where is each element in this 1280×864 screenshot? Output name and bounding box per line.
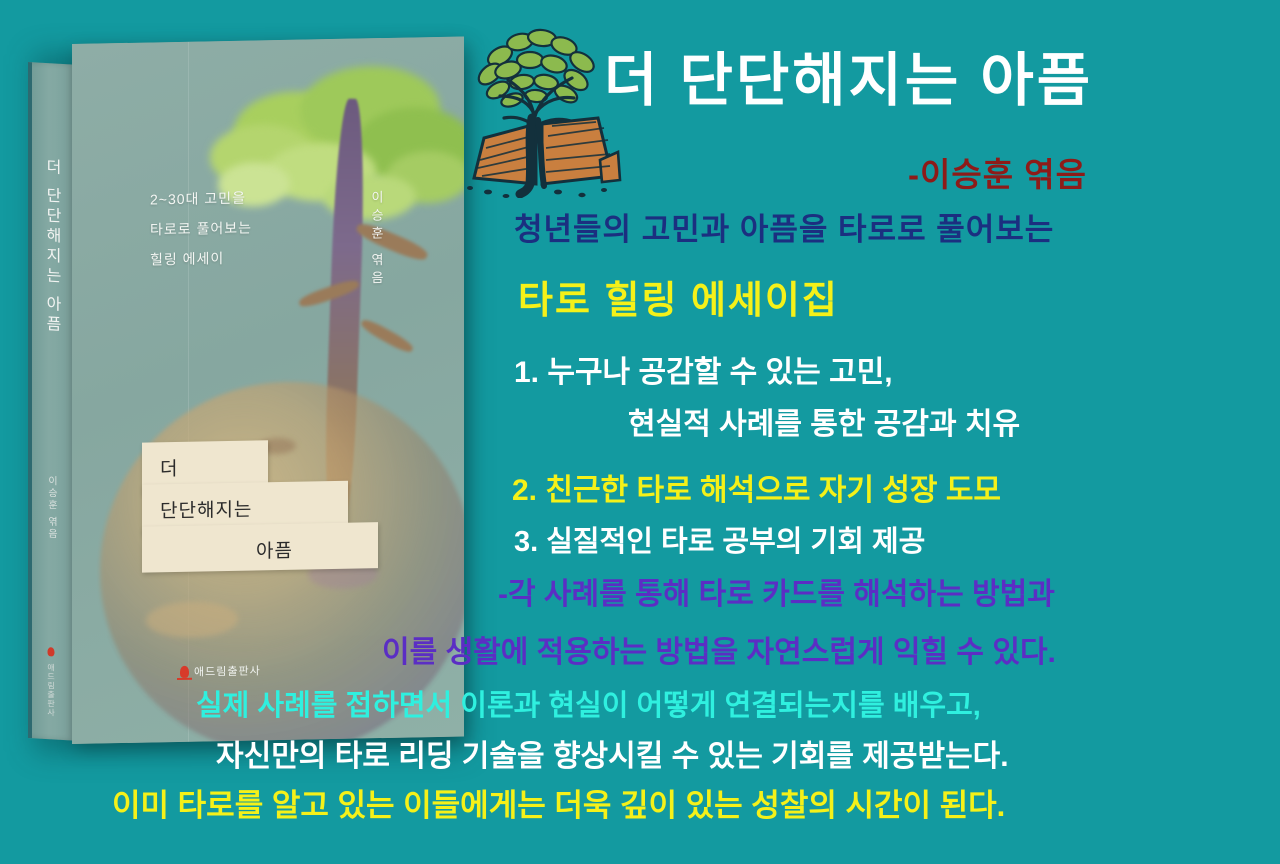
promo-closing-line-1: 실제 사례를 접하면서 이론과 현실이 어떻게 연결되는지를 배우고, xyxy=(196,692,981,721)
cover-tagline-line-1: 2~30대 고민을 xyxy=(150,183,252,215)
spine-publisher: 애드림출판사 xyxy=(46,663,57,718)
promo-point-2: 2. 친근한 타로 해석으로 자기 성장 도모 xyxy=(512,476,1001,506)
cover-author: 이승훈 엮음 xyxy=(367,190,386,289)
cover-tagline-line-2: 타로로 풀어보는 xyxy=(150,213,252,245)
promo-point-1-line-1: 1. 누구나 공감할 수 있는 고민, xyxy=(514,358,893,388)
publisher-mark-icon xyxy=(180,666,189,678)
cover-title-line-3: 아픔 xyxy=(256,536,293,564)
spine-title: 더 단단해지는 아픔 xyxy=(43,158,59,336)
book-spine: 더 단단해지는 아픔 이승훈 엮음 애드림출판사 xyxy=(28,62,74,741)
spine-publisher-mark-icon xyxy=(48,647,55,656)
spine-author: 이승훈 엮음 xyxy=(44,475,59,541)
promo-author-credit: -이승훈 엮음 xyxy=(908,158,1087,191)
promo-point-3: 3. 실질적인 타로 공부의 기회 제공 xyxy=(514,528,925,557)
promo-point-1-line-2: 현실적 사례를 통한 공감과 치유 xyxy=(628,410,1020,440)
tree-on-rock-icon xyxy=(462,26,622,198)
cover-publisher: 애드림출판사 xyxy=(180,662,261,680)
spine-edge xyxy=(28,62,32,738)
promo-section-heading: 타로 힐링 에세이집 xyxy=(518,282,839,320)
cover-title-line-1: 더 xyxy=(160,454,178,481)
cover-tagline-line-3: 힐링 에세이 xyxy=(150,243,252,275)
cover-tagline: 2~30대 고민을 타로로 풀어보는 힐링 에세이 xyxy=(150,183,252,275)
promo-closing-line-2: 자신만의 타로 리딩 기술을 향상시킬 수 있는 기회를 제공받는다. xyxy=(216,742,1009,772)
promo-subtitle: 청년들의 고민과 아픔을 타로로 풀어보는 xyxy=(514,214,1054,245)
promo-note-line-2: 이를 생활에 적용하는 방법을 자연스럽게 익힐 수 있다. xyxy=(382,638,1056,668)
cover-publisher-name: 애드림출판사 xyxy=(194,662,261,679)
cover-title-plate: 더 단단해지는 아픔 xyxy=(142,438,378,573)
promo-headline: 더 단단해지는 아픔 xyxy=(604,52,1093,110)
promo-closing-line-3: 이미 타로를 알고 있는 이들에게는 더욱 깊이 있는 성찰의 시간이 된다. xyxy=(112,790,1005,821)
promo-note-line-1: -각 사례를 통해 타로 카드를 해석하는 방법과 xyxy=(498,580,1055,610)
cover-title-line-2: 단단해지는 xyxy=(160,495,252,524)
promo-poster: 더 단단해지는 아픔 이승훈 엮음 애드림출판사 xyxy=(0,0,1280,864)
